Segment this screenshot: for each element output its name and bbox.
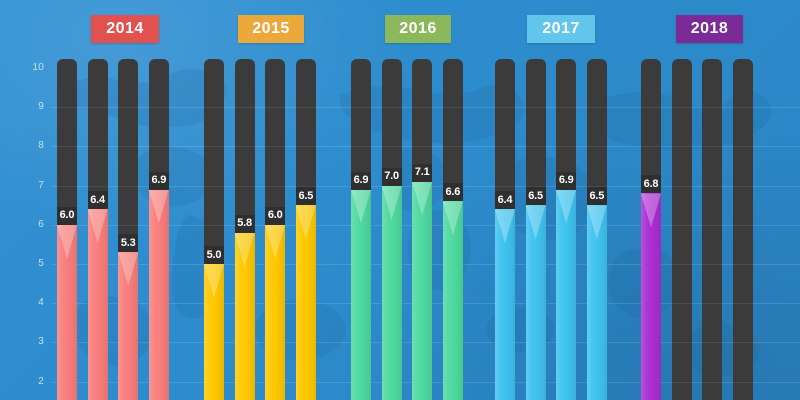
bar-2018-3[interactable] [702,59,722,400]
bar-value-label: 7.0 [382,168,402,186]
bar-track-gridline [672,303,692,304]
bar-value-label: 5.8 [235,215,255,233]
bar-track-gridline [733,264,753,265]
bar-2016-1[interactable] [351,59,371,400]
bar-track-gridline [118,225,138,226]
bar-fill [57,225,77,400]
bar-track-gridline [702,186,722,187]
bar-track-gridline [57,186,77,187]
bar-track-gridline [235,107,255,108]
bar-track-gridline [733,186,753,187]
bar-2014-1[interactable] [57,59,77,400]
bar-track-gridline [556,107,576,108]
bar-track-gridline [204,107,224,108]
bar-value-label: 5.3 [118,234,138,252]
year-label-2017[interactable]: 2017 [527,15,595,43]
y-axis-tick-label: 2 [0,377,44,387]
chart-canvas: 10987654326.06.45.36.95.05.86.06.56.97.0… [0,0,800,400]
bar-track-gridline [57,146,77,147]
bar-fill [351,190,371,400]
y-axis-tick-label: 3 [0,337,44,347]
bar-track-gridline [88,107,108,108]
bar-2014-4[interactable] [149,59,169,400]
bar-2017-2[interactable] [526,59,546,400]
bar-2018-4[interactable] [733,59,753,400]
bar-track-gridline [702,264,722,265]
bar-track-gridline [702,303,722,304]
bar-fill [587,205,607,400]
bar-value-label: 6.5 [296,187,316,205]
bar-2018-2[interactable] [672,59,692,400]
y-axis-tick-label: 8 [0,141,44,151]
bar-track-gridline [672,342,692,343]
bar-track-gridline [702,342,722,343]
y-axis-tick-label: 5 [0,259,44,269]
bar-track-gridline [672,225,692,226]
year-label-2014[interactable]: 2014 [91,15,159,43]
bar-value-label: 6.0 [57,207,77,225]
bar-track-gridline [587,107,607,108]
bar-track-gridline [235,146,255,147]
bar-track-gridline [672,264,692,265]
bar-track-gridline [204,225,224,226]
bar-2018-1[interactable] [641,59,661,400]
bar-2015-4[interactable] [296,59,316,400]
y-axis-tick-label: 6 [0,220,44,230]
bar-fill [556,190,576,400]
bar-track-gridline [118,107,138,108]
bar-track-gridline [495,186,515,187]
bar-track-gridline [412,107,432,108]
bar-track-gridline [587,146,607,147]
bar-2016-3[interactable] [412,59,432,400]
bar-value-label: 6.8 [641,175,661,193]
bar-value-label: 6.9 [351,172,371,190]
bar-track-gridline [733,107,753,108]
bar-fill [204,264,224,400]
bar-track-gridline [733,303,753,304]
bar-fill [495,209,515,400]
bar-track-gridline [235,186,255,187]
bar-track-gridline [495,107,515,108]
bar-2016-2[interactable] [382,59,402,400]
bar-fill [526,205,546,400]
bar-track-gridline [672,382,692,383]
bar-track-gridline [672,146,692,147]
bar-2015-1[interactable] [204,59,224,400]
bar-fill [235,233,255,400]
y-axis-tick-label: 4 [0,298,44,308]
bar-track-gridline [733,225,753,226]
bar-value-label: 6.9 [149,172,169,190]
bar-value-label: 6.6 [443,183,463,201]
bar-2014-2[interactable] [88,59,108,400]
bar-value-label: 5.0 [204,246,224,264]
year-label-2018[interactable]: 2018 [676,15,743,43]
bar-track-gridline [57,107,77,108]
bar-track-gridline [526,107,546,108]
year-label-2016[interactable]: 2016 [385,15,451,43]
bar-track-gridline [443,146,463,147]
bar-track-gridline [702,225,722,226]
y-axis-tick-label: 9 [0,102,44,112]
bar-track-gridline [641,107,661,108]
bar-track-gridline [412,146,432,147]
bar-track-gridline [733,342,753,343]
bar-2016-4[interactable] [443,59,463,400]
bar-value-label: 6.4 [88,191,108,209]
bar-2017-4[interactable] [587,59,607,400]
bar-track-gridline [351,146,371,147]
bar-track-gridline [382,146,402,147]
bar-fill [149,190,169,400]
y-axis-tick-label: 10 [0,63,44,73]
bar-track-gridline [702,107,722,108]
bar-track-gridline [118,186,138,187]
bar-value-label: 6.5 [526,187,546,205]
bar-fill [118,252,138,400]
bar-track-gridline [443,107,463,108]
bar-track-gridline [672,186,692,187]
bar-track-gridline [265,107,285,108]
bar-value-label: 7.1 [412,164,432,182]
bar-value-label: 6.5 [587,187,607,205]
bar-fill [382,186,402,400]
bar-track-gridline [556,146,576,147]
bar-track-gridline [672,107,692,108]
bar-fill [443,201,463,400]
bar-track-gridline [265,186,285,187]
bar-track-gridline [296,107,316,108]
bar-track-gridline [149,107,169,108]
bar-track-gridline [88,146,108,147]
bar-track-gridline [733,382,753,383]
bar-track-gridline [702,382,722,383]
bar-track-gridline [204,146,224,147]
bar-2015-3[interactable] [265,59,285,400]
bar-track-gridline [641,146,661,147]
plot-area: 10987654326.06.45.36.95.05.86.06.56.97.0… [0,0,800,400]
bar-track-gridline [733,146,753,147]
bar-track-gridline [265,146,285,147]
year-label-2015[interactable]: 2015 [238,15,304,43]
bar-track-gridline [351,107,371,108]
bar-track-gridline [526,146,546,147]
bar-2017-1[interactable] [495,59,515,400]
bar-value-label: 6.9 [556,172,576,190]
bar-fill [88,209,108,400]
bar-value-label: 6.4 [495,191,515,209]
bar-fill [265,225,285,400]
bar-fill [296,205,316,400]
bar-2014-3[interactable] [118,59,138,400]
bar-track-gridline [149,146,169,147]
bar-track-gridline [88,186,108,187]
bar-track-gridline [495,146,515,147]
bar-track-gridline [382,107,402,108]
bar-track-gridline [296,146,316,147]
bar-track-gridline [118,146,138,147]
bar-2017-3[interactable] [556,59,576,400]
bar-fill [412,182,432,400]
bar-track-gridline [204,186,224,187]
bar-fill [641,193,661,400]
bar-track-gridline [702,146,722,147]
bar-value-label: 6.0 [265,207,285,225]
y-axis-tick-label: 7 [0,181,44,191]
